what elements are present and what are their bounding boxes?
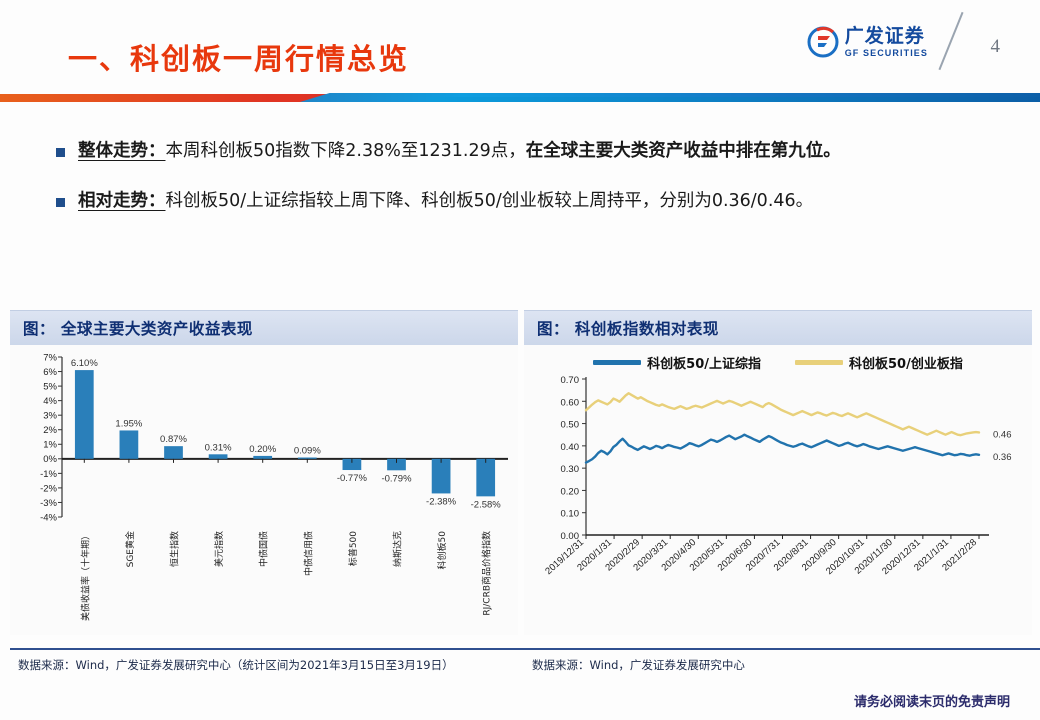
svg-text:RJ/CRB商品价格指数: RJ/CRB商品价格指数 xyxy=(481,531,493,616)
bullet-square-icon xyxy=(56,148,65,157)
bullet-emphasis: 在全球主要大类资产收益中排在第九位。 xyxy=(526,141,841,161)
svg-text:中债国债: 中债国债 xyxy=(258,531,270,567)
panel-body-left: 7%6%5%4%3%2%1%0%-1%-2%-3%-4%6.10%美债收益率（十… xyxy=(10,345,518,635)
bullet-lead: 相对走势： xyxy=(78,191,166,211)
logo-text-cn: 广发证券 xyxy=(845,27,928,46)
bar-y-tick-label: 0% xyxy=(43,454,57,465)
bar-y-tick-label: 6% xyxy=(43,367,57,378)
bar-category-label: SGE黄金 xyxy=(124,531,136,567)
line-y-tick-label: 0.20 xyxy=(561,486,580,497)
ribbon-orange-segment xyxy=(0,94,300,102)
bullet-list: 整体走势：本周科创板50指数下降2.38%至1231.29点，在全球主要大类资产… xyxy=(56,140,1016,239)
line-chart: 0.700.600.500.400.300.200.100.002019/12/… xyxy=(524,345,1032,635)
bar-category-label: 恒生指数 xyxy=(169,531,181,567)
bar-y-tick-label: -2% xyxy=(40,483,57,494)
bullet-item-relative: 相对走势：科创板50/上证综指较上周下降、科创板50/创业板较上周持平，分别为0… xyxy=(56,190,1016,214)
svg-text:纳斯达克: 纳斯达克 xyxy=(392,531,404,567)
bullet-text: 相对走势：科创板50/上证综指较上周下降、科创板50/创业板较上周持平，分别为0… xyxy=(78,190,813,214)
bar xyxy=(476,459,495,497)
bar-y-tick-label: -1% xyxy=(40,469,57,480)
bullet-body: 科创板50/上证综指较上周下降、科创板50/创业板较上周持平，分别为0.36/0… xyxy=(166,191,814,211)
bar-value-label: 1.95% xyxy=(115,418,142,429)
bar-value-label: 0.87% xyxy=(160,434,187,445)
bar-value-label: -0.79% xyxy=(381,473,412,484)
svg-text:标普500: 标普500 xyxy=(347,531,359,566)
slide: 一、科创板一周行情总览 广发证券 GF SECURITIES 4 xyxy=(0,0,1040,720)
line-end-value-label: 0.46 xyxy=(993,429,1012,440)
panel-source-left: 数据来源：Wind，广发证券发展研究中心（统计区间为2021年3月15日至3月1… xyxy=(10,648,526,680)
bar-value-label: 0.20% xyxy=(249,444,276,455)
bar-y-tick-label: -4% xyxy=(40,512,57,523)
header-ribbon xyxy=(0,91,1040,102)
bar-category-label: 中债国债 xyxy=(258,531,270,567)
disclaimer-note: 请务必阅读末页的免责声明 xyxy=(854,691,1010,710)
svg-text:科创板50: 科创板50 xyxy=(436,531,448,570)
bullet-square-icon xyxy=(56,198,65,207)
line-end-value-label: 0.36 xyxy=(993,452,1012,463)
bar xyxy=(164,446,183,459)
bar xyxy=(298,458,317,459)
bullet-text: 整体走势：本周科创板50指数下降2.38%至1231.29点，在全球主要大类资产… xyxy=(78,140,841,164)
bar-category-label: 美债收益率（十年期） xyxy=(79,531,91,621)
bar-y-tick-label: 2% xyxy=(43,425,57,436)
page-title: 一、科创板一周行情总览 xyxy=(68,36,409,78)
line-series xyxy=(586,393,979,435)
bullet-lead: 整体走势： xyxy=(78,141,166,161)
bar-chart: 7%6%5%4%3%2%1%0%-1%-2%-3%-4%6.10%美债收益率（十… xyxy=(10,345,518,635)
line-y-tick-label: 0.30 xyxy=(561,464,580,475)
bullet-item-overall: 整体走势：本周科创板50指数下降2.38%至1231.29点，在全球主要大类资产… xyxy=(56,140,1016,164)
ribbon-blue-highlight xyxy=(430,97,1040,102)
bar-y-tick-label: 3% xyxy=(43,411,57,422)
bar xyxy=(253,456,272,459)
svg-text:中债信用债: 中债信用债 xyxy=(302,531,314,576)
logo-text: 广发证券 GF SECURITIES xyxy=(845,27,928,58)
bar-value-label: -2.38% xyxy=(426,496,457,507)
bar-category-label: 标普500 xyxy=(347,531,359,566)
logo-text-en: GF SECURITIES xyxy=(845,49,928,58)
panel-relative-performance: 图： 科创板指数相对表现 科创板50/上证综指 科创板50/创业板指 0.700… xyxy=(524,310,1032,680)
bar xyxy=(209,454,228,459)
panel-header-left: 图： 全球主要大类资产收益表现 xyxy=(10,310,518,345)
gf-logo-icon xyxy=(807,26,839,58)
svg-text:美债收益率（十年期）: 美债收益率（十年期） xyxy=(79,531,91,621)
line-series xyxy=(586,435,979,463)
line-y-tick-label: 0.70 xyxy=(561,375,580,386)
slide-header: 一、科创板一周行情总览 广发证券 GF SECURITIES 4 xyxy=(0,0,1040,98)
bar-value-label: 0.31% xyxy=(205,442,232,453)
panel-source-right: 数据来源：Wind，广发证券发展研究中心 xyxy=(524,648,1040,680)
bar-category-label: 中债信用债 xyxy=(302,531,314,576)
line-y-tick-label: 0.50 xyxy=(561,420,580,431)
bar-value-label: -0.77% xyxy=(337,473,368,484)
bar xyxy=(75,370,94,459)
svg-text:恒生指数: 恒生指数 xyxy=(169,531,181,567)
bar-value-label: -2.58% xyxy=(471,499,502,510)
logo-divider-slash xyxy=(938,12,963,70)
panel-asset-returns: 图： 全球主要大类资产收益表现 7%6%5%4%3%2%1%0%-1%-2%-3… xyxy=(10,310,518,680)
bar-y-tick-label: 4% xyxy=(43,396,57,407)
line-y-tick-label: 0.60 xyxy=(561,397,580,408)
svg-text:美元指数: 美元指数 xyxy=(213,531,225,567)
bar-y-tick-label: -3% xyxy=(40,498,57,509)
bullet-body: 本周科创板50指数下降2.38%至1231.29点， xyxy=(166,141,526,161)
bar-category-label: 美元指数 xyxy=(213,531,225,567)
bar-value-label: 0.09% xyxy=(294,446,321,457)
bar xyxy=(432,459,451,494)
bar-category-label: 科创板50 xyxy=(436,531,448,570)
bar xyxy=(120,430,139,458)
bar-y-tick-label: 1% xyxy=(43,440,57,451)
panel-header-right: 图： 科创板指数相对表现 xyxy=(524,310,1032,345)
bar-category-label: 纳斯达克 xyxy=(392,531,404,567)
bar-value-label: 6.10% xyxy=(71,358,98,369)
company-logo: 广发证券 GF SECURITIES xyxy=(807,26,928,58)
bar-y-tick-label: 5% xyxy=(43,381,57,392)
panel-body-right: 科创板50/上证综指 科创板50/创业板指 0.700.600.500.400.… xyxy=(524,345,1032,635)
svg-text:SGE黄金: SGE黄金 xyxy=(124,531,136,567)
bar-y-tick-label: 7% xyxy=(43,352,57,363)
line-y-tick-label: 0.10 xyxy=(561,509,580,520)
line-y-tick-label: 0.40 xyxy=(561,442,580,453)
bar-category-label: RJ/CRB商品价格指数 xyxy=(481,531,493,616)
page-number: 4 xyxy=(991,36,1001,58)
